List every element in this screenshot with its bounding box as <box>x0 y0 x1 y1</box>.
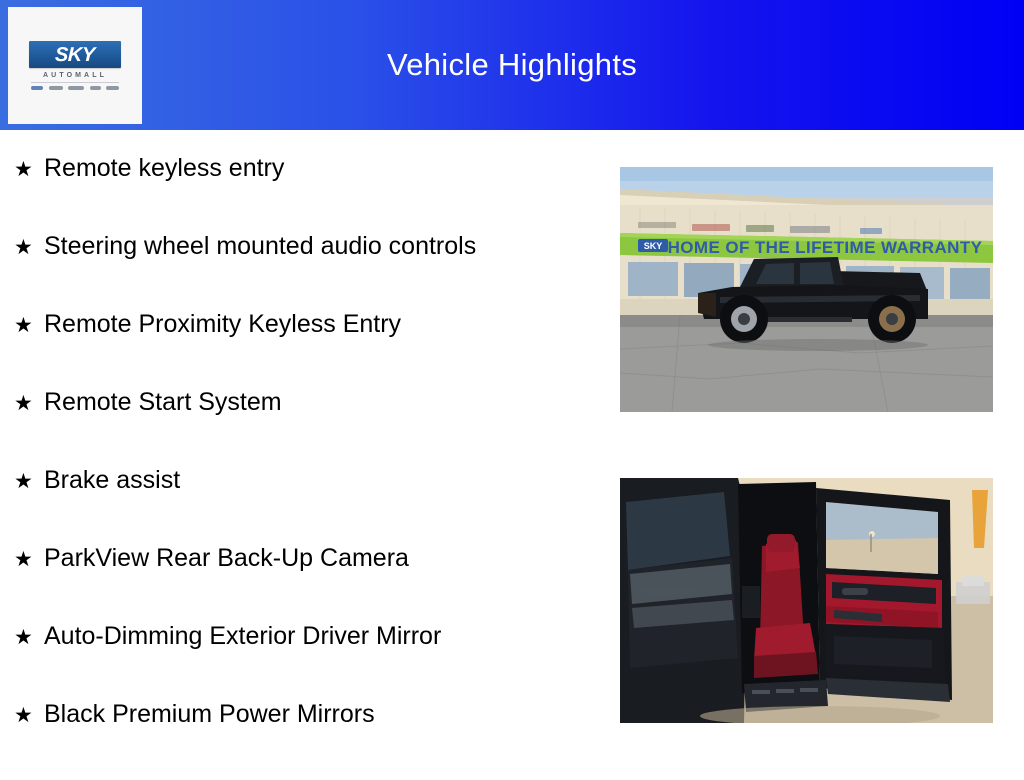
svg-text:SKY: SKY <box>644 241 663 251</box>
brand-ram-icon <box>106 86 119 90</box>
logo-banner: SKY <box>29 41 121 68</box>
list-item-label: ParkView Rear Back-Up Camera <box>44 546 409 571</box>
list-item: ★ ParkView Rear Back-Up Camera <box>14 546 610 624</box>
star-bullet-icon: ★ <box>14 471 44 492</box>
brand-dodge-icon <box>68 86 84 90</box>
logo-brand-row <box>31 86 119 90</box>
list-item-label: Remote keyless entry <box>44 156 284 181</box>
list-item: ★ Auto-Dimming Exterior Driver Mirror <box>14 624 610 702</box>
svg-text:HOME OF THE LIFETIME WARRANTY: HOME OF THE LIFETIME WARRANTY <box>668 238 983 257</box>
logo-divider <box>31 82 119 83</box>
brand-ford-icon <box>31 86 43 90</box>
vehicle-photo-interior <box>620 478 993 723</box>
star-bullet-icon: ★ <box>14 315 44 336</box>
star-bullet-icon: ★ <box>14 159 44 180</box>
vehicle-highlights-list: ★ Remote keyless entry ★ Steering wheel … <box>0 130 610 780</box>
star-bullet-icon: ★ <box>14 393 44 414</box>
list-item-label: Steering wheel mounted audio controls <box>44 234 476 259</box>
list-item: ★ Remote Proximity Keyless Entry <box>14 312 610 390</box>
brand-jeep-icon <box>90 86 101 90</box>
dealer-logo: SKY AUTOMALL <box>8 7 142 124</box>
list-item: ★ Brake assist <box>14 468 610 546</box>
list-item-label: Auto-Dimming Exterior Driver Mirror <box>44 624 441 649</box>
brand-chrysler-icon <box>49 86 63 90</box>
list-item-label: Remote Start System <box>44 390 282 415</box>
slide-body: ★ Remote keyless entry ★ Steering wheel … <box>0 130 1024 768</box>
logo-wordmark: SKY <box>55 45 95 65</box>
list-item: ★ Remote Start System <box>14 390 610 468</box>
page-title: Vehicle Highlights <box>0 0 1024 130</box>
star-bullet-icon: ★ <box>14 237 44 258</box>
logo-subtitle: AUTOMALL <box>43 72 107 79</box>
list-item-label: Remote Proximity Keyless Entry <box>44 312 401 337</box>
list-item: ★ Remote keyless entry <box>14 156 610 234</box>
list-item-label: Brake assist <box>44 468 180 493</box>
star-bullet-icon: ★ <box>14 705 44 726</box>
star-bullet-icon: ★ <box>14 549 44 570</box>
star-bullet-icon: ★ <box>14 627 44 648</box>
interior-photo-graphic <box>620 478 993 723</box>
list-item: ★ Steering wheel mounted audio controls <box>14 234 610 312</box>
list-item: ★ Black Premium Power Mirrors <box>14 702 610 780</box>
page-header: Vehicle Highlights SKY AUTOMALL <box>0 0 1024 130</box>
vehicle-photo-exterior: SKY HOME OF THE LIFETIME WARRANTY <box>620 167 993 412</box>
exterior-photo-graphic: SKY HOME OF THE LIFETIME WARRANTY <box>620 167 993 412</box>
list-item-label: Black Premium Power Mirrors <box>44 702 375 727</box>
